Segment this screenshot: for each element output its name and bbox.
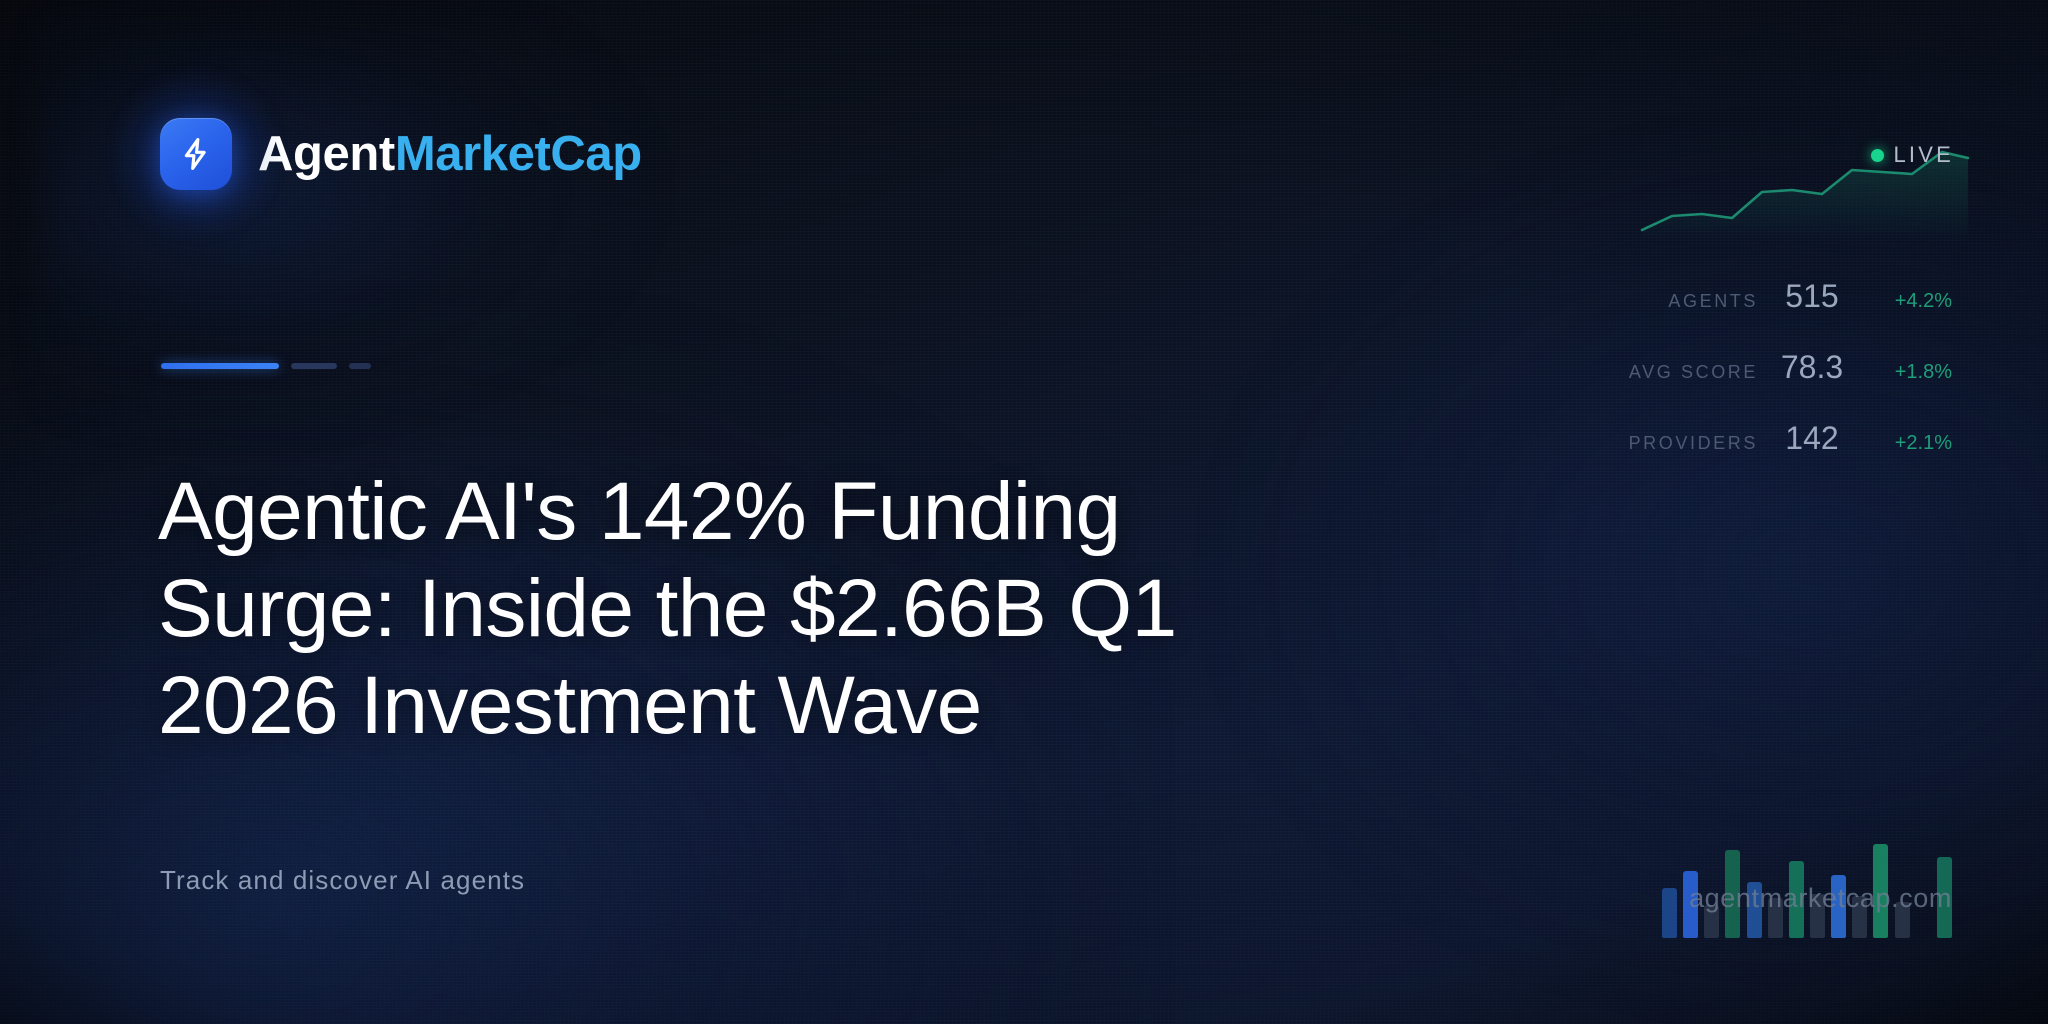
live-indicator-dot	[1871, 149, 1884, 162]
stat-value: 142	[1758, 420, 1866, 457]
lightning-bolt-icon	[178, 136, 214, 172]
tagline: Track and discover AI agents	[160, 865, 525, 896]
share-card-canvas: AgentMarketCap Agentic AI's 142% Funding…	[0, 0, 2048, 1024]
stat-label: AVG SCORE	[1620, 362, 1758, 383]
headline-line-2: Surge: Inside the $2.66B Q1	[158, 560, 1388, 657]
footer-bar	[1662, 888, 1677, 938]
accent-dash-secondary	[291, 363, 337, 369]
accent-dashes	[161, 363, 371, 369]
accent-dash-tertiary	[349, 363, 371, 369]
brand-name: AgentMarketCap	[258, 130, 642, 179]
stat-label: AGENTS	[1620, 291, 1758, 312]
site-url: agentmarketcap.com	[1689, 883, 1952, 914]
logo-tile[interactable]	[160, 118, 232, 190]
stat-value: 515	[1758, 278, 1866, 315]
stat-row-agents: AGENTS 515 +4.2%	[1620, 278, 1952, 349]
footer-right: agentmarketcap.com	[1662, 840, 1952, 952]
page-title: Agentic AI's 142% Funding Surge: Inside …	[158, 463, 1388, 754]
stat-row-providers: PROVIDERS 142 +2.1%	[1620, 420, 1952, 491]
brand-name-accent: MarketCap	[395, 127, 642, 181]
status-badge: LIVE	[1871, 142, 1955, 168]
headline-line-3: 2026 Investment Wave	[158, 657, 1388, 754]
stats-list: AGENTS 515 +4.2% AVG SCORE 78.3 +1.8% PR…	[1620, 278, 1952, 491]
brand-lockup[interactable]: AgentMarketCap	[160, 118, 642, 190]
stat-label: PROVIDERS	[1620, 433, 1758, 454]
accent-dash-primary	[161, 363, 279, 369]
stat-delta: +2.1%	[1866, 432, 1952, 455]
headline-line-1: Agentic AI's 142% Funding	[158, 463, 1388, 560]
stat-delta: +4.2%	[1866, 290, 1952, 313]
stat-row-avg-score: AVG SCORE 78.3 +1.8%	[1620, 349, 1952, 420]
live-label: LIVE	[1894, 142, 1955, 168]
stat-value: 78.3	[1758, 349, 1866, 386]
brand-name-primary: Agent	[258, 127, 395, 181]
stat-delta: +1.8%	[1866, 361, 1952, 384]
